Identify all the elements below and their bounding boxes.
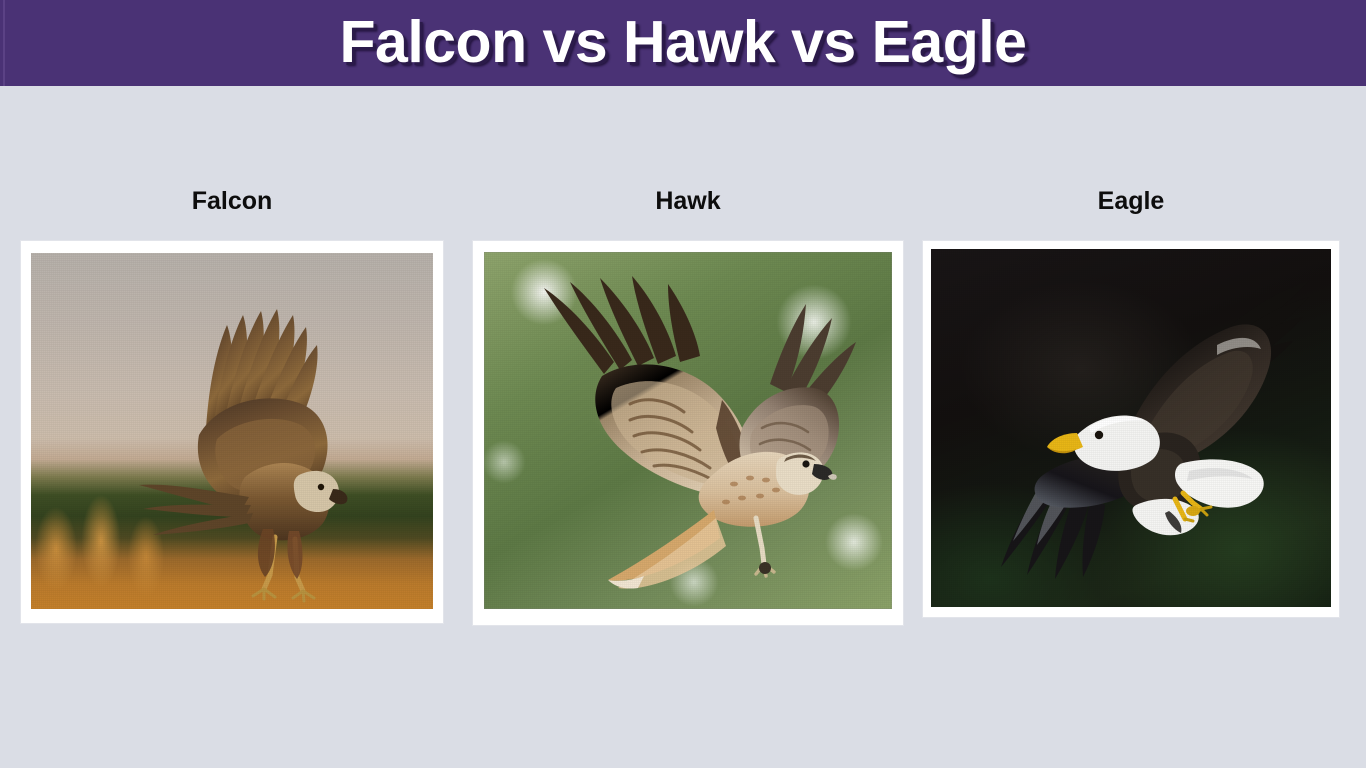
hawk-bird-illustration [484, 252, 892, 609]
photo-frame-hawk [472, 240, 904, 626]
page-title: Falcon vs Hawk vs Eagle [0, 6, 1366, 78]
photo-frame-falcon [20, 240, 444, 624]
eagle-bird-illustration [931, 249, 1331, 607]
photo-eagle[interactable] [931, 249, 1331, 607]
falcon-bird-illustration [31, 253, 433, 609]
comparison-card-falcon: Falcon [20, 186, 444, 624]
photo-hawk[interactable] [484, 252, 892, 609]
comparison-card-row: Falcon [0, 86, 1366, 768]
header-banner: Falcon vs Hawk vs Eagle [0, 0, 1366, 86]
comparison-card-hawk: Hawk [472, 186, 904, 626]
card-label-eagle: Eagle [922, 186, 1340, 218]
photo-frame-eagle [922, 240, 1340, 618]
card-label-falcon: Falcon [20, 186, 444, 218]
comparison-card-eagle: Eagle [922, 186, 1340, 618]
photo-falcon[interactable] [31, 253, 433, 609]
card-label-hawk: Hawk [472, 186, 904, 218]
